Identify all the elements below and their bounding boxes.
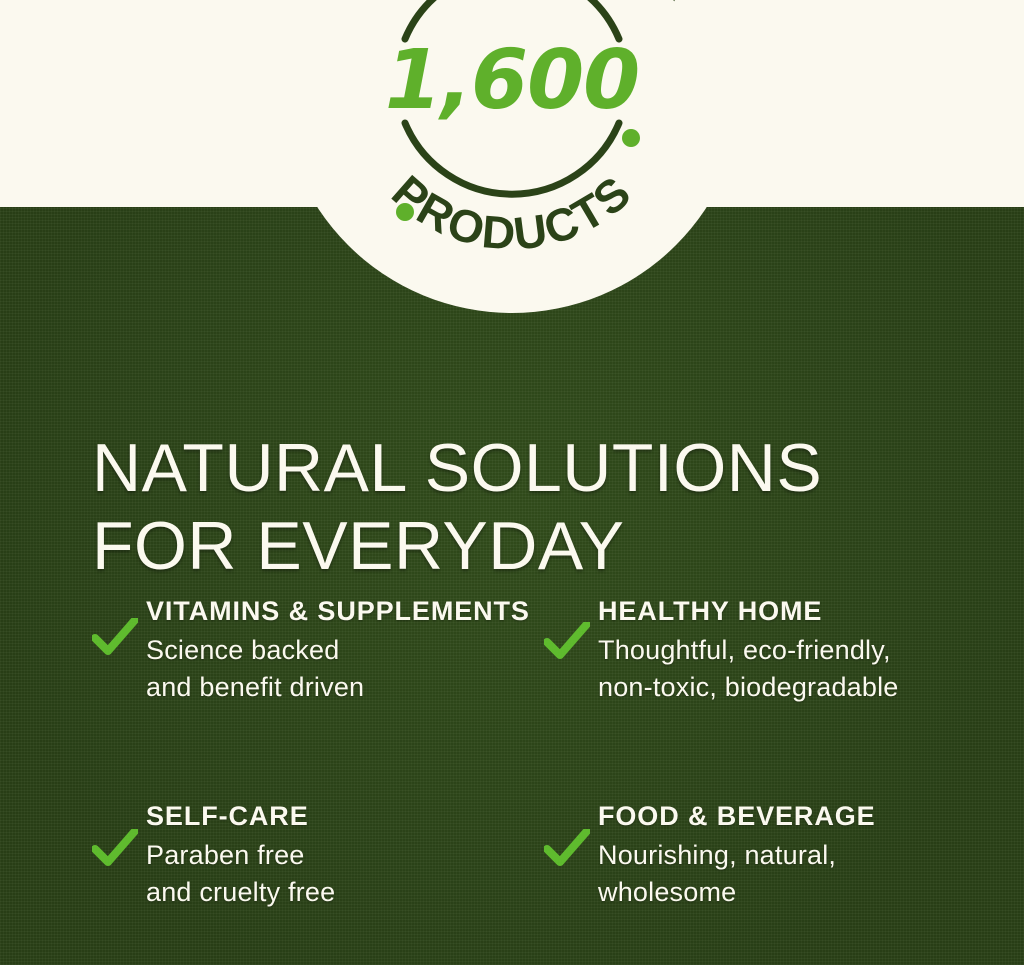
feature-title: FOOD & BEVERAGE [598,799,982,835]
feature-title-line-1: SELF-CARE [146,801,309,831]
feature-desc-line-1: Nourishing, natural, [598,837,982,874]
feature-item-healthy-home: HEALTHY HOME Thoughtful, eco-friendly, n… [544,592,988,797]
badge-dot-right [622,129,640,147]
feature-desc-line-2: non-toxic, biodegradable [598,669,982,706]
feature-desc-line-1: Paraben free [146,837,538,874]
feature-desc-line-2: and cruelty free [146,874,538,911]
feature-text-block: FOOD & BEVERAGE Nourishing, natural, who… [598,797,982,911]
headline-line-2: FOR EVERYDAY [92,507,972,586]
feature-text-block: VITAMINS & SUPPLEMENTS Science backed an… [146,592,538,706]
badge-arc-bottom-text: PRODUCTS [382,165,641,260]
promotional-poster: OFFERING OVER PRODUCTS 1,600 NATURAL SOL… [0,0,1024,965]
feature-desc-line-1: Science backed [146,632,538,669]
checkmark-icon [544,829,598,869]
feature-title-line-2: SUPPLEMENTS [317,596,529,626]
feature-title-line-1: HEALTHY HOME [598,596,822,626]
checkmark-icon [92,829,146,869]
checkmark-icon [544,622,598,662]
products-count-badge: OFFERING OVER PRODUCTS 1,600 [280,0,744,313]
feature-item-self-care: SELF-CARE Paraben free and cruelty free [92,797,544,911]
feature-title-line-1: VITAMINS & [146,596,309,626]
feature-item-food-beverage: FOOD & BEVERAGE Nourishing, natural, who… [544,797,988,911]
feature-text-block: SELF-CARE Paraben free and cruelty free [146,797,538,911]
badge-arc-top-text: OFFERING OVER [312,0,711,9]
feature-description: Science backed and benefit driven [146,632,538,707]
feature-title-line-1: FOOD & BEVERAGE [598,801,876,831]
feature-desc-line-2: wholesome [598,874,982,911]
feature-item-vitamins-supplements: VITAMINS & SUPPLEMENTS Science backed an… [92,592,544,797]
page-title: NATURAL SOLUTIONS FOR EVERYDAY [92,429,972,587]
feature-description: Paraben free and cruelty free [146,837,538,912]
feature-title: SELF-CARE [146,799,538,835]
badge-product-count: 1,600 [280,40,744,122]
feature-grid: VITAMINS & SUPPLEMENTS Science backed an… [92,592,988,911]
feature-description: Nourishing, natural, wholesome [598,837,982,912]
feature-title: VITAMINS & SUPPLEMENTS [146,594,538,630]
feature-title: HEALTHY HOME [598,594,982,630]
checkmark-icon [92,618,146,658]
feature-text-block: HEALTHY HOME Thoughtful, eco-friendly, n… [598,592,982,706]
headline-line-1: NATURAL SOLUTIONS [92,429,972,508]
feature-desc-line-2: and benefit driven [146,669,538,706]
feature-desc-line-1: Thoughtful, eco-friendly, [598,632,982,669]
feature-description: Thoughtful, eco-friendly, non-toxic, bio… [598,632,982,707]
